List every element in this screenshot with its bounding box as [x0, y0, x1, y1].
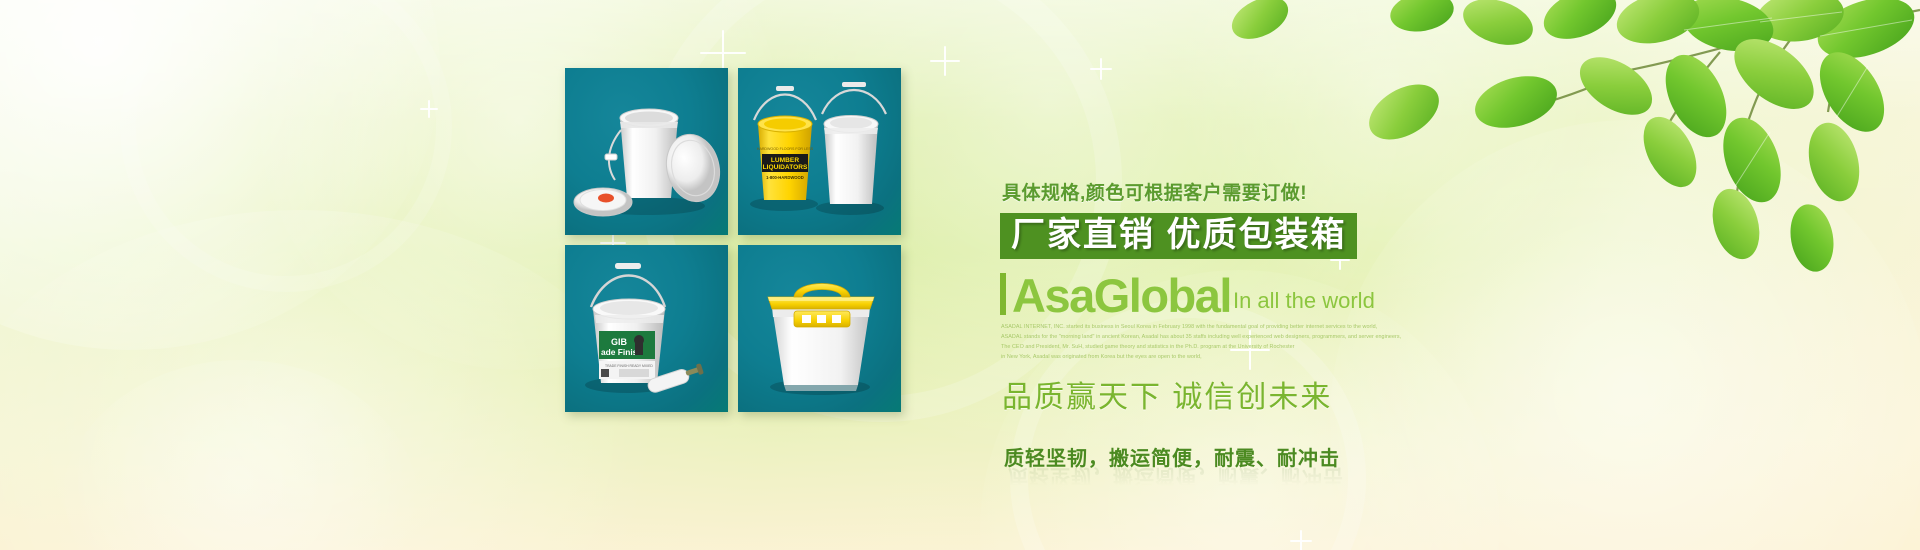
- soft-light-ring: [120, 0, 452, 292]
- svg-text:GIB: GIB: [611, 337, 628, 347]
- brand-subtitle: In all the world: [1233, 288, 1375, 314]
- sparkle-star: [1090, 58, 1112, 80]
- soft-light-bokeh: [60, 360, 420, 550]
- company-blurb: ASADAL INTERNET, INC. started its busine…: [1001, 322, 1393, 362]
- product-cell-yellow-and-white-pails[interactable]: LUMBER LIQUIDATORS HARDWOOD FLOORS FOR L…: [738, 68, 901, 235]
- product-cell-white-pail-with-lids[interactable]: [565, 68, 728, 235]
- sparkle-star: [1290, 530, 1312, 550]
- svg-text:HARDWOOD FLOORS FOR LESS: HARDWOOD FLOORS FOR LESS: [757, 147, 814, 151]
- brand-row: AsaGlobal In all the world: [1000, 273, 1400, 317]
- blurb-line: ASADAL stands for the "morning land" in …: [1001, 332, 1393, 342]
- brand-name: AsaGlobal: [1012, 274, 1231, 317]
- soft-light-bokeh: [1330, 120, 1920, 550]
- product-image-grid: LUMBER LIQUIDATORS HARDWOOD FLOORS FOR L…: [565, 68, 901, 412]
- svg-text:LIQUIDATORS: LIQUIDATORS: [763, 164, 808, 171]
- blurb-line: ASADAL INTERNET, INC. started its busine…: [1001, 322, 1393, 332]
- headline-text: 厂家直销 优质包装箱: [1011, 218, 1346, 252]
- marketing-copy-block: 具体规格,颜色可根据客户需要订做! 厂家直销 优质包装箱 AsaGlobal I…: [1000, 178, 1400, 471]
- svg-text:1-800-HARDWOOD: 1-800-HARDWOOD: [766, 175, 804, 180]
- blurb-line: in New York, Asadal was originated from …: [1001, 352, 1393, 362]
- promo-banner: LUMBER LIQUIDATORS HARDWOOD FLOORS FOR L…: [0, 0, 1920, 550]
- soft-light-bokeh: [0, 0, 440, 350]
- blurb-line: The CEO and President, Mr. SuH, studied …: [1001, 342, 1393, 352]
- slogan-text: 品质赢天下 诚信创未来: [1002, 372, 1400, 416]
- brand-accent-bar: [1000, 273, 1006, 315]
- product-cell-white-tool-box-yellow-lid[interactable]: [738, 245, 901, 412]
- headline-green-band: 厂家直销 优质包装箱: [1000, 213, 1357, 259]
- svg-text:TRADE FINISH READY MIXED: TRADE FINISH READY MIXED: [605, 364, 653, 368]
- product-cell-gib-finish-pail-with-roller[interactable]: GIB ade Finish TRADE FINISH READY MIXED: [565, 245, 728, 412]
- tagline-text: 具体规格,颜色可根据客户需要订做!: [1002, 178, 1400, 205]
- sparkle-star: [930, 46, 960, 76]
- features-reflection: 质轻坚韧，搬运简便，耐震、耐冲击: [1008, 464, 1344, 493]
- svg-text:LUMBER: LUMBER: [771, 157, 799, 164]
- features-text: 质轻坚韧，搬运简便，耐震、耐冲击 质轻坚韧，搬运简便，耐震、耐冲击: [1004, 442, 1400, 471]
- soft-light-bokeh: [0, 210, 660, 550]
- sparkle-star: [420, 100, 438, 118]
